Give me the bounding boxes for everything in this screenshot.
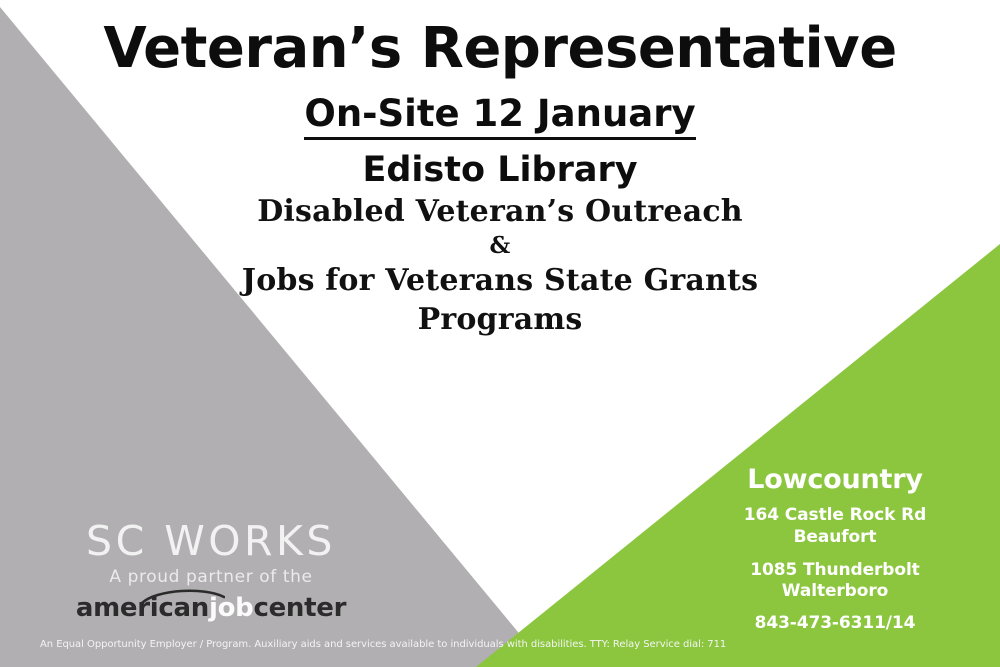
contact-block: Lowcountry 164 Castle Rock Rd Beaufort 1… <box>690 466 980 632</box>
address-two-city: Walterboro <box>690 581 980 603</box>
sc-works-tagline: A proud partner of the <box>46 569 376 586</box>
program-line-2: Jobs for Veterans State Grants <box>0 261 1000 300</box>
ajc-center-text: center <box>253 593 346 623</box>
address-two-street: 1085 Thunderbolt <box>690 560 980 582</box>
program-line-1: Disabled Veteran’s Outreach <box>0 192 1000 231</box>
event-date-text: On-Site 12 January <box>304 92 695 140</box>
heading-block: Veteran’s Representative On-Site 12 Janu… <box>0 0 1000 188</box>
flyer-poster: Veteran’s Representative On-Site 12 Janu… <box>0 0 1000 667</box>
office-name: Lowcountry <box>690 466 980 493</box>
address-one-street: 164 Castle Rock Rd <box>690 505 980 527</box>
sc-works-logo: SC WORKS A proud partner of the american… <box>46 521 376 629</box>
ajc-job-text: job <box>209 593 254 623</box>
program-line-3: Programs <box>0 300 1000 339</box>
american-job-center-logo: americanjobcenter <box>46 595 376 629</box>
phone-number: 843-473-6311/14 <box>690 615 980 632</box>
event-date-heading: On-Site 12 January <box>0 77 1000 132</box>
address-two: 1085 Thunderbolt Walterboro <box>690 560 980 604</box>
sc-works-wordmark: SC WORKS <box>46 521 376 562</box>
event-venue-heading: Edisto Library <box>0 132 1000 188</box>
address-one: 164 Castle Rock Rd Beaufort <box>690 505 980 549</box>
program-block: Disabled Veteran’s Outreach & Jobs for V… <box>0 192 1000 339</box>
equal-opportunity-disclaimer: An Equal Opportunity Employer / Program.… <box>40 640 970 650</box>
ajc-american-text: american <box>76 593 209 623</box>
page-title: Veteran’s Representative <box>0 0 1000 77</box>
address-one-city: Beaufort <box>690 527 980 549</box>
program-ampersand: & <box>0 231 1000 261</box>
